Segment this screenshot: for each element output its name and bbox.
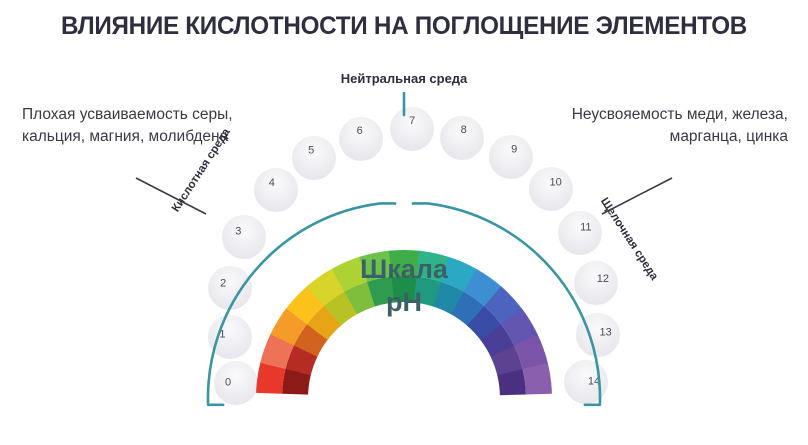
ph-bubble-circle (214, 361, 258, 405)
ph-bubble-circle (440, 116, 484, 160)
ph-bubble-circle (390, 107, 434, 151)
ph-bubble-label: 6 (357, 125, 363, 137)
left-pointer-line (136, 178, 206, 214)
ph-bubble-12: 12 (574, 261, 618, 305)
ph-bubble-label: 3 (235, 225, 241, 237)
ph-bubble-label: 10 (549, 176, 561, 188)
ph-bubble-0: 0 (214, 361, 258, 405)
pointer-lines (136, 178, 672, 214)
ph-bubble-6: 6 (339, 117, 383, 161)
ph-bubble-label: 7 (409, 115, 415, 127)
ph-bubble-label: 11 (580, 222, 591, 234)
ph-bubble-label: 8 (461, 124, 467, 136)
ph-bubble-label: 12 (597, 273, 609, 285)
ph-bubble-circle (339, 117, 383, 161)
ph-bubble-circle (222, 215, 266, 259)
ph-bubble-14: 14 (564, 360, 608, 404)
ph-bubble-circle (292, 136, 336, 180)
ph-bubble-10: 10 (529, 167, 573, 211)
ph-bubble-label: 0 (225, 376, 231, 388)
ph-bubble-label: 2 (220, 278, 226, 290)
ph-bubble-circle (529, 167, 573, 211)
ph-bubble-label: 4 (269, 177, 275, 189)
ph-bubble-circle (254, 168, 298, 212)
ph-bubble-8: 8 (440, 116, 484, 160)
infographic-canvas: ВЛИЯНИЕ КИСЛОТНОСТИ НА ПОГЛОЩЕНИЕ ЭЛЕМЕН… (0, 0, 808, 445)
center-title: Шкала pH (304, 253, 504, 319)
ph-scale-diagram: 01234567891011121314 (0, 0, 808, 445)
ph-bubble-label: 13 (599, 327, 611, 339)
ph-bubble-9: 9 (489, 135, 533, 179)
ph-bubble-11: 11 (558, 211, 602, 255)
ph-bubble-7: 7 (390, 107, 434, 151)
ph-bubble-label: 9 (511, 144, 517, 156)
ph-bubble-circle (489, 135, 533, 179)
ph-bubble-4: 4 (254, 168, 298, 212)
ph-bubble-3: 3 (222, 215, 266, 259)
ph-bubble-circle (208, 266, 252, 310)
ph-bubble-circle (564, 360, 608, 404)
ph-bubble-5: 5 (292, 136, 336, 180)
ph-bubble-label: 5 (308, 145, 314, 157)
ph-bubble-2: 2 (208, 266, 252, 310)
right-pointer-line (602, 178, 672, 214)
